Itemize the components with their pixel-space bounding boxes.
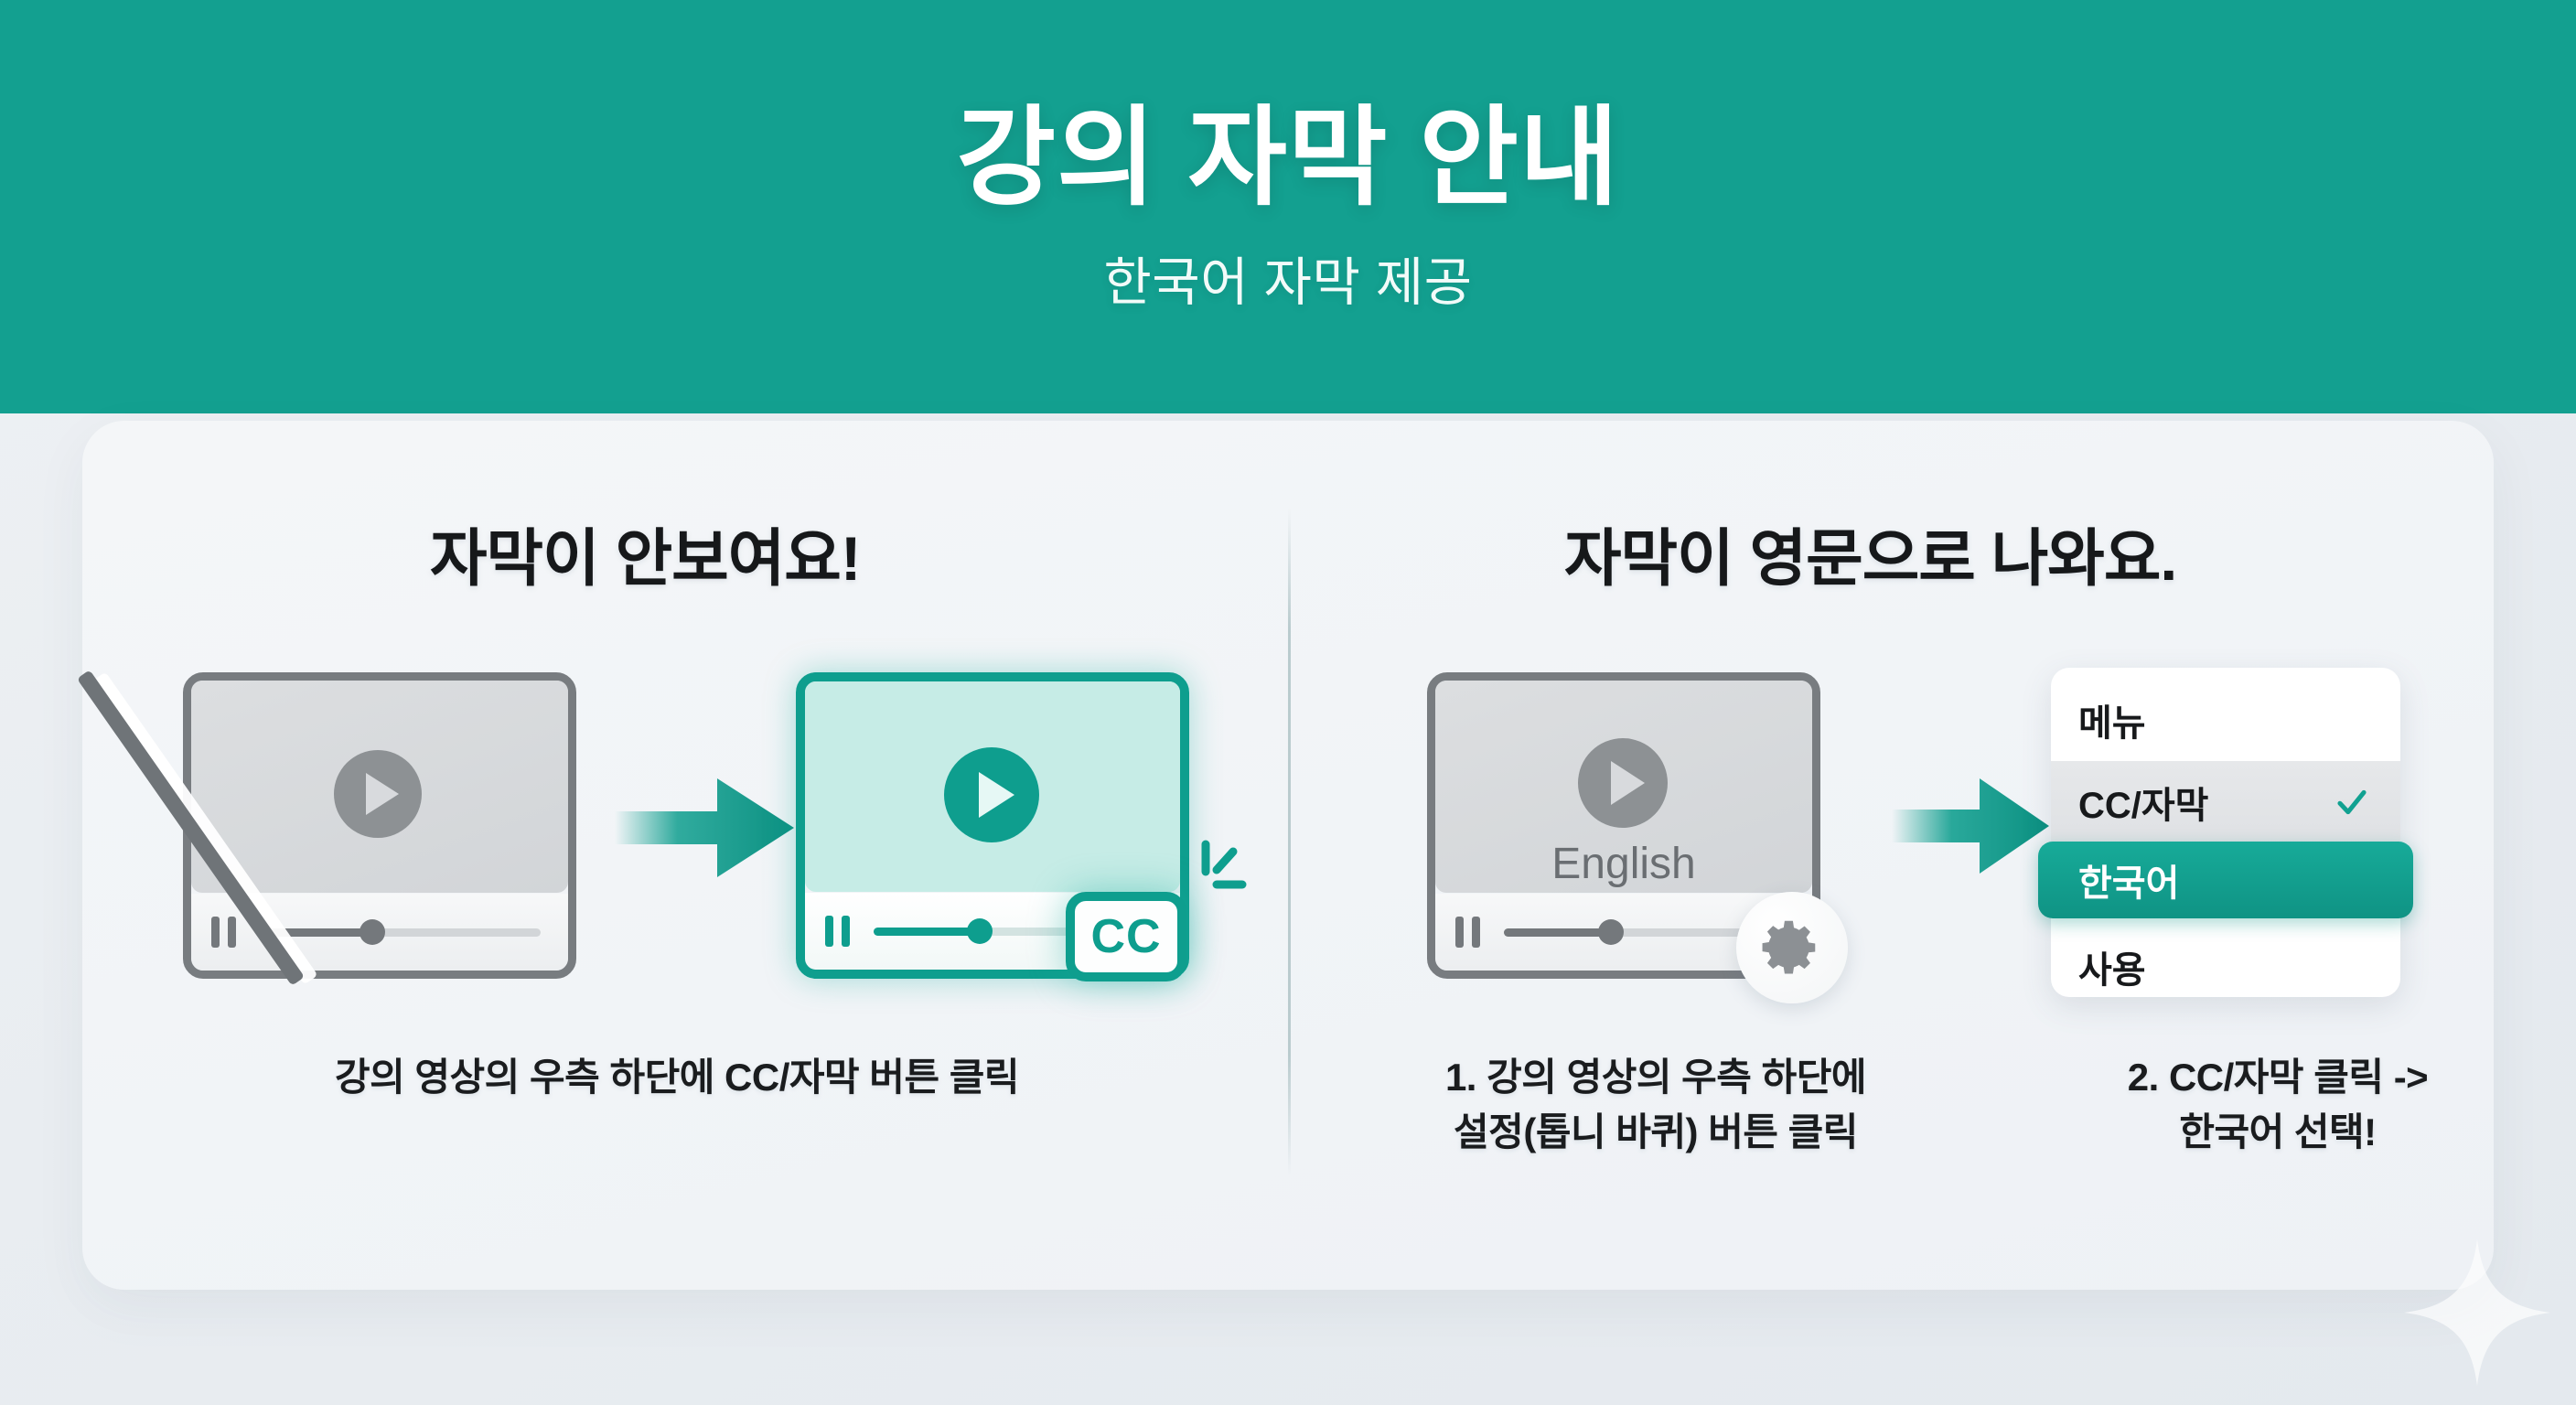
sparkle-icon — [2404, 1239, 2550, 1386]
header-band: 강의 자막 안내 한국어 자막 제공 — [0, 0, 2576, 413]
panel-heading-english-subtitles: 자막이 영문으로 나와요. — [1564, 508, 2176, 598]
pause-icon — [1455, 917, 1480, 948]
caption-left: 강의 영상의 우측 하단에 CC/자막 버튼 클릭 — [137, 1050, 1217, 1105]
page-subtitle: 한국어 자막 제공 — [1103, 241, 1472, 316]
progress-track — [260, 928, 541, 937]
play-icon — [334, 750, 422, 838]
video-language-label: English — [1427, 839, 1820, 889]
gear-icon — [1756, 912, 1828, 983]
menu-item-cc-subtitles[interactable]: CC/자막 — [2051, 761, 2400, 843]
subtitle-settings-menu[interactable]: 메뉴 CC/자막 한국어 사용 — [2051, 668, 2400, 997]
menu-item-label: 한국어 — [2078, 853, 2179, 906]
menu-item-label: 메뉴 — [2078, 693, 2146, 746]
caption-step-1: 1. 강의 영상의 우측 하단에 설정(톱니 바퀴) 버튼 클릭 — [1345, 1050, 1967, 1159]
menu-item-label: 사용 — [2078, 940, 2146, 993]
infographic-page: 강의 자막 안내 한국어 자막 제공 자막이 안보여요! — [0, 0, 2576, 1405]
click-burst-icon — [1189, 837, 1272, 919]
menu-item-use[interactable]: 사용 — [2051, 926, 2400, 1008]
progress-knob — [360, 919, 385, 945]
pause-icon — [211, 917, 236, 948]
arrow-right-icon — [615, 771, 798, 885]
play-triangle — [1611, 761, 1645, 805]
caption-step-2: 2. CC/자막 클릭 -> 한국어 선택! — [1994, 1050, 2561, 1159]
cc-subtitle-button[interactable]: CC — [1066, 892, 1186, 981]
settings-gear-button[interactable] — [1736, 892, 1848, 1003]
page-title: 강의 자막 안내 — [957, 98, 1620, 219]
play-triangle — [979, 772, 1014, 818]
panel-divider — [1288, 508, 1291, 1175]
progress-filled — [874, 928, 980, 936]
menu-item-korean[interactable]: 한국어 — [2038, 842, 2413, 918]
arrow-right-icon — [1892, 771, 2052, 881]
play-icon — [1578, 738, 1668, 828]
cc-button-label: CC — [1090, 909, 1161, 964]
play-icon — [944, 747, 1039, 842]
progress-knob — [967, 918, 993, 944]
video-player-disabled — [183, 672, 576, 979]
progress-knob — [1598, 919, 1624, 945]
menu-item-label: CC/자막 — [2078, 776, 2209, 829]
check-icon — [2334, 785, 2369, 820]
panel-heading-no-subtitles: 자막이 안보여요! — [430, 508, 860, 598]
play-triangle — [366, 773, 399, 815]
progress-filled — [1504, 928, 1611, 937]
pause-icon — [825, 916, 850, 947]
menu-item-menu[interactable]: 메뉴 — [2051, 679, 2400, 761]
